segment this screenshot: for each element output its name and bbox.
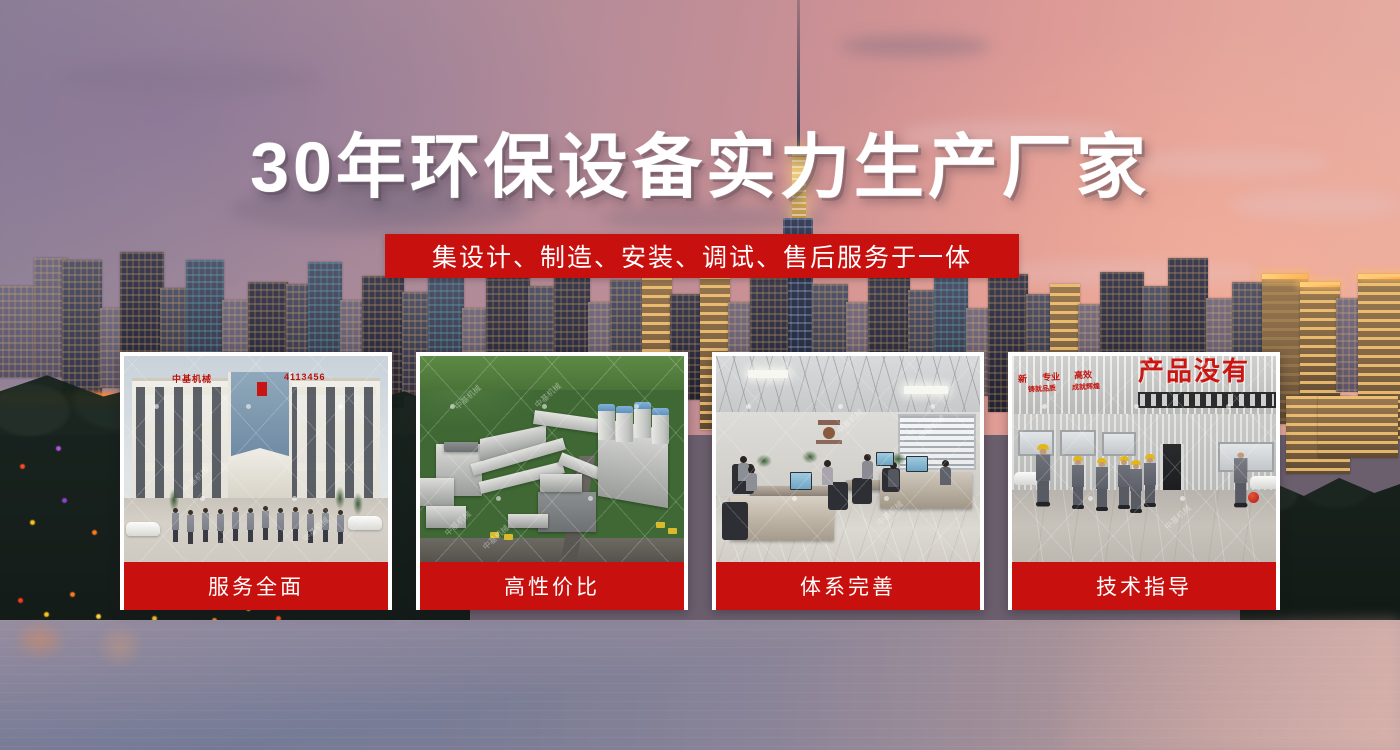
card-photo-factory-yard: 产品没有 新 专业 高效 铸就品质 成就辉煌	[1012, 356, 1276, 562]
feature-card[interactable]: 产品没有 新 专业 高效 铸就品质 成就辉煌	[1008, 352, 1280, 610]
hero-banner: 30年环保设备实力生产厂家 集设计、制造、安装、调试、售后服务于一体 中基机械 …	[0, 0, 1400, 750]
red-helmet-icon	[1248, 492, 1259, 503]
factory-sign-text: 产品没有	[1138, 358, 1250, 384]
factory-slogan-text: 新	[1018, 372, 1028, 385]
wall-decal-icon	[812, 420, 846, 446]
card-label: 高性价比	[420, 562, 684, 610]
card-label: 体系完善	[716, 562, 980, 610]
card-photo-office-interior: 中基机械 中基机械 中基机械	[716, 356, 980, 562]
factory-slogan-text: 成就辉煌	[1072, 381, 1100, 392]
feature-card[interactable]: 中基机械 中基机械 中基机械 中基机械 高性价比	[416, 352, 688, 610]
building-phone-text: 4113456	[284, 372, 326, 382]
river-water	[0, 620, 1400, 750]
factory-slogan-text: 专业	[1042, 370, 1061, 384]
card-label: 技术指导	[1012, 562, 1276, 610]
feature-cards: 中基机械 4113456	[120, 352, 1280, 610]
building-sign-text: 中基机械	[172, 372, 252, 384]
card-label: 服务全面	[124, 562, 388, 610]
factory-slogan-text: 高效	[1074, 368, 1093, 382]
subtitle-banner: 集设计、制造、安装、调试、售后服务于一体	[385, 234, 1019, 278]
page-title: 30年环保设备实力生产厂家	[0, 132, 1400, 202]
factory-slogan-text: 铸就品质	[1028, 383, 1056, 394]
feature-card[interactable]: 中基机械 中基机械 中基机械 体系完善	[712, 352, 984, 610]
card-photo-plant-aerial: 中基机械 中基机械 中基机械 中基机械	[420, 356, 684, 562]
card-photo-headquarters: 中基机械 4113456	[124, 356, 388, 562]
feature-card[interactable]: 中基机械 4113456	[120, 352, 392, 610]
